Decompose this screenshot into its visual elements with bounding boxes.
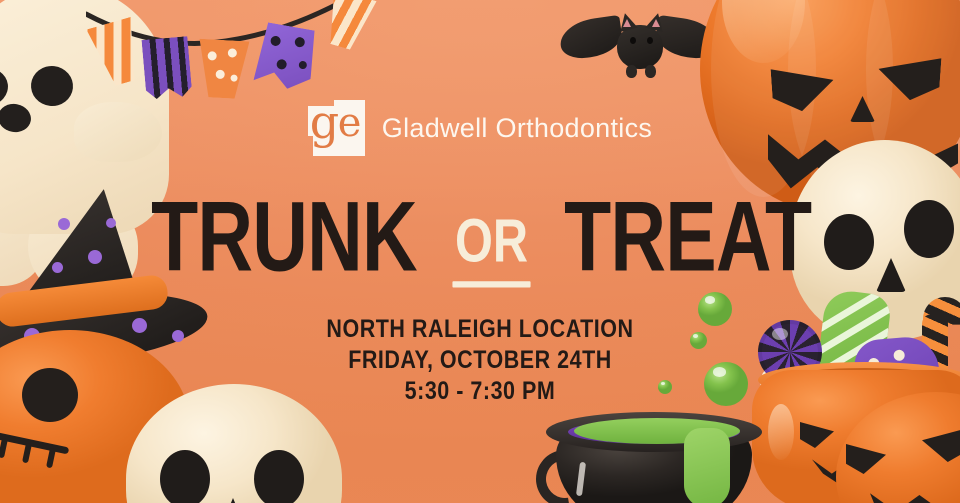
headline-connector: OR	[455, 206, 528, 276]
headline-word-two: TREAT	[564, 180, 811, 294]
page-title: TRUNKORTREAT	[0, 186, 960, 294]
headline-connector-underline	[452, 281, 530, 287]
brand-name: Gladwell Orthodontics	[382, 113, 652, 144]
event-time: 5:30 - 7:30 PM	[67, 376, 893, 407]
logo-letter-e: e	[338, 103, 362, 143]
logo-letter-g: g	[310, 99, 339, 145]
halloween-event-flyer: g e Gladwell Orthodontics TRUNKORTREAT N…	[0, 0, 960, 503]
event-date: FRIDAY, OCTOBER 24TH	[67, 345, 893, 376]
headline-connector-text: OR	[455, 206, 528, 276]
headline-word-one: TRUNK	[151, 180, 417, 294]
event-location: NORTH RALEIGH LOCATION	[67, 314, 893, 345]
event-details: NORTH RALEIGH LOCATION FRIDAY, OCTOBER 2…	[0, 314, 960, 407]
flyer-content: g e Gladwell Orthodontics TRUNKORTREAT N…	[0, 0, 960, 503]
gladwell-logo-icon: g e	[308, 100, 365, 156]
brand-lockup: g e Gladwell Orthodontics	[0, 100, 960, 156]
